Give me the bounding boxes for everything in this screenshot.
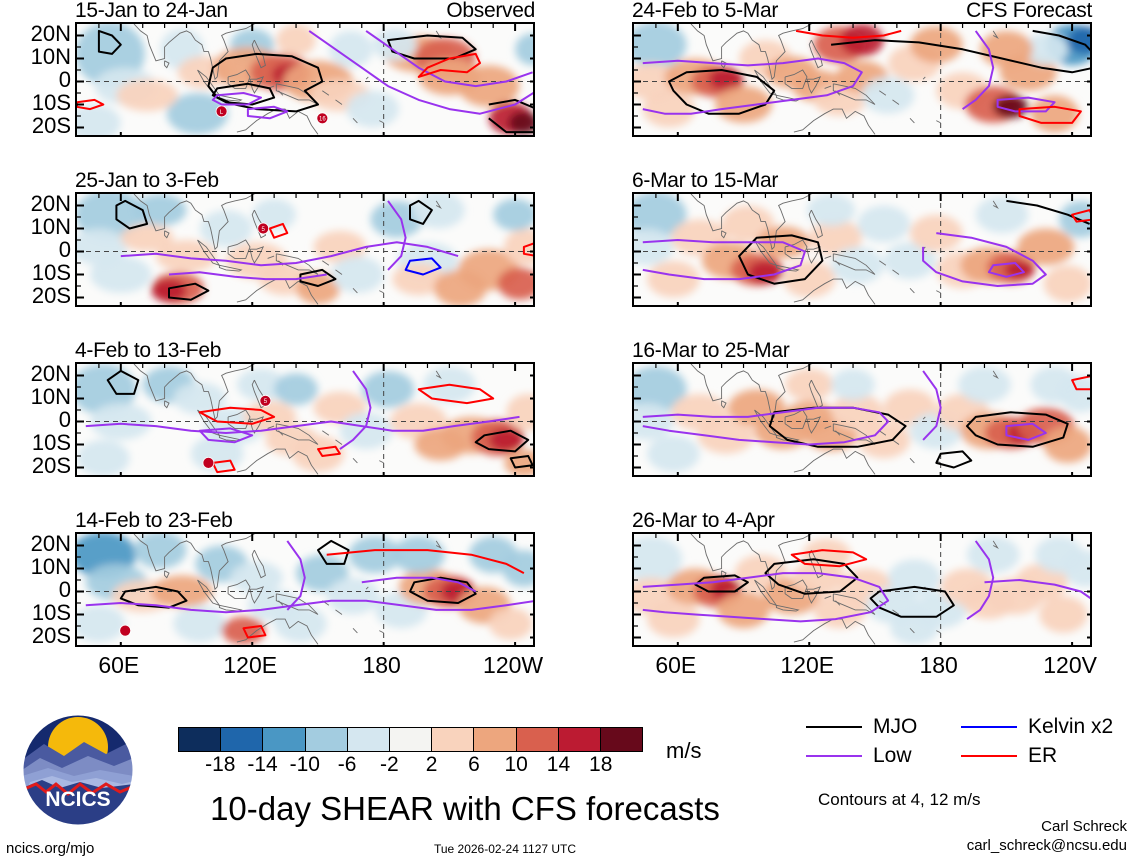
author-name: Carl Schreck xyxy=(967,818,1127,837)
colorbar-swatch xyxy=(559,728,601,751)
y-axis-tick-label: 10S xyxy=(32,602,71,624)
logo-text: NCICS xyxy=(45,788,110,811)
y-axis-tick-label: 10S xyxy=(32,92,71,114)
svg-text:16: 16 xyxy=(319,117,326,123)
y-axis-tick-label: 20S xyxy=(32,625,71,647)
forecast-panel: 26-Mar to 4-Apr60E120E180120V xyxy=(632,532,1092,647)
cyclone-marker: L xyxy=(216,106,227,117)
panel-plot-area xyxy=(75,532,535,647)
colorbar-tick: -14 xyxy=(247,753,277,777)
colorbar-tick: 18 xyxy=(589,753,612,777)
x-axis-tick-label: 180 xyxy=(919,652,957,679)
y-axis-tick-label: 0 xyxy=(59,409,71,431)
author-block: Carl Schreck carl_schreck@ncsu.edu xyxy=(967,818,1127,856)
x-axis-labels: 60E120E180120W xyxy=(75,652,535,682)
y-axis-tick-label: 10S xyxy=(32,262,71,284)
forecast-panel: 16-Mar to 25-Mar xyxy=(632,362,1092,477)
colorbar-tick: 2 xyxy=(426,753,438,777)
panel-title: 24-Feb to 5-Mar xyxy=(632,0,778,23)
panel-plot-area xyxy=(632,532,1092,647)
y-axis-tick-label: 20N xyxy=(31,363,71,385)
shear-forecast-figure: 15-Jan to 24-JanObserved20N10N010S20SL16… xyxy=(0,0,1135,860)
legend-item-er: ER xyxy=(961,744,1116,768)
panel-title: 4-Feb to 13-Feb xyxy=(75,339,221,363)
y-axis-tick-label: 20S xyxy=(32,455,71,477)
legend-line-icon xyxy=(806,726,862,728)
legend-item-mjo: MJO xyxy=(806,715,961,739)
y-axis-tick-label: 10N xyxy=(31,386,71,408)
legend-label: MJO xyxy=(873,715,917,739)
forecast-panel: 4-Feb to 13-Feb20N10N010S20S5 xyxy=(75,362,535,477)
colorbar-tick: -10 xyxy=(290,753,320,777)
y-axis-tick-label: 20N xyxy=(31,193,71,215)
legend-row: MJO Kelvin x2 xyxy=(806,712,1116,741)
colorbar-tick: -6 xyxy=(338,753,357,777)
panel-title: 16-Mar to 25-Mar xyxy=(632,339,789,363)
legend-label: ER xyxy=(1028,744,1057,768)
colorbar-swatch xyxy=(517,728,559,751)
legend-label: Low xyxy=(873,744,912,768)
y-axis-tick-label: 10N xyxy=(31,216,71,238)
forecast-panel: 24-Feb to 5-MarCFS Forecast xyxy=(632,22,1092,137)
colorbar-tick: -18 xyxy=(205,753,235,777)
colorbar-tick-labels: -18-14-10-6-226101418 xyxy=(178,752,643,778)
legend-item-kelvin: Kelvin x2 xyxy=(961,715,1116,739)
x-axis-tick-label: 120V xyxy=(1043,652,1097,679)
cyclone-marker xyxy=(203,457,214,468)
legend-line-icon xyxy=(806,755,862,757)
colorbar-tick: 14 xyxy=(547,753,570,777)
cyclone-marker: 16 xyxy=(317,113,328,124)
colorbar-units: m/s xyxy=(666,738,701,764)
panel-plot-area: 5 xyxy=(75,362,535,477)
legend-line-icon xyxy=(961,726,1017,728)
y-axis-labels: 20N10N010S20S xyxy=(9,350,71,489)
panel-plot-area: L16 xyxy=(75,22,535,137)
y-axis-tick-label: 10N xyxy=(31,556,71,578)
y-axis-tick-label: 20N xyxy=(31,533,71,555)
colorbar: -18-14-10-6-226101418 xyxy=(178,727,643,778)
forecast-panel: 14-Feb to 23-Feb20N10N010S20S60E120E1801… xyxy=(75,532,535,647)
x-axis-labels: 60E120E180120V xyxy=(632,652,1092,682)
y-axis-tick-label: 10S xyxy=(32,432,71,454)
colorbar-swatch xyxy=(432,728,474,751)
panel-plot-area xyxy=(632,22,1092,137)
footer-timestamp: Tue 2026-02-24 1127 UTC xyxy=(434,842,576,856)
colorbar-swatch xyxy=(474,728,516,751)
legend-row: Low ER xyxy=(806,741,1116,770)
y-axis-labels: 20N10N010S20S xyxy=(9,10,71,149)
colorbar-swatches xyxy=(178,727,643,752)
colorbar-tick: 10 xyxy=(504,753,527,777)
x-axis-tick-label: 120E xyxy=(780,652,834,679)
cyclone-marker: 5 xyxy=(258,223,269,234)
colorbar-swatch xyxy=(221,728,263,751)
footer-url[interactable]: ncics.org/mjo xyxy=(6,840,94,857)
author-email: carl_schreck@ncsu.edu xyxy=(967,837,1127,856)
x-axis-tick-label: 60E xyxy=(98,652,139,679)
y-axis-tick-label: 0 xyxy=(59,69,71,91)
colorbar-swatch xyxy=(348,728,390,751)
ncics-logo: NCICS xyxy=(22,714,134,831)
x-axis-tick-label: 180 xyxy=(362,652,400,679)
colorbar-swatch xyxy=(601,728,642,751)
colorbar-tick: 6 xyxy=(468,753,480,777)
y-axis-tick-label: 20N xyxy=(31,23,71,45)
panel-title: 14-Feb to 23-Feb xyxy=(75,509,232,533)
y-axis-tick-label: 0 xyxy=(59,239,71,261)
cyclone-marker: 5 xyxy=(260,395,271,406)
panel-title: 15-Jan to 24-Jan xyxy=(75,0,228,23)
x-axis-tick-label: 60E xyxy=(655,652,696,679)
x-axis-tick-label: 120E xyxy=(223,652,277,679)
x-axis-tick-label: 120W xyxy=(483,652,543,679)
y-axis-labels: 20N10N010S20S xyxy=(9,180,71,319)
panel-corner-label: Observed xyxy=(446,0,535,23)
y-axis-labels: 20N10N010S20S xyxy=(9,520,71,659)
panel-corner-label: CFS Forecast xyxy=(966,0,1092,23)
legend-item-low: Low xyxy=(806,744,961,768)
colorbar-swatch xyxy=(179,728,221,751)
y-axis-tick-label: 0 xyxy=(59,579,71,601)
cyclone-marker xyxy=(120,625,131,636)
y-axis-tick-label: 10N xyxy=(31,46,71,68)
colorbar-tick: -2 xyxy=(380,753,399,777)
y-axis-tick-label: 20S xyxy=(32,285,71,307)
panel-title: 6-Mar to 15-Mar xyxy=(632,169,778,193)
colorbar-swatch xyxy=(306,728,348,751)
forecast-panel: 25-Jan to 3-Feb20N10N010S20S5 xyxy=(75,192,535,307)
colorbar-swatch xyxy=(263,728,305,751)
colorbar-swatch xyxy=(390,728,432,751)
panel-plot-area xyxy=(632,362,1092,477)
legend-line-icon xyxy=(961,755,1017,757)
legend-label: Kelvin x2 xyxy=(1028,715,1113,739)
forecast-panel: 15-Jan to 24-JanObserved20N10N010S20SL16 xyxy=(75,22,535,137)
panel-plot-area: 5 xyxy=(75,192,535,307)
contour-legend: MJO Kelvin x2 Low ER xyxy=(806,712,1116,770)
panel-plot-area xyxy=(632,192,1092,307)
panel-title: 25-Jan to 3-Feb xyxy=(75,169,219,193)
panel-title: 26-Mar to 4-Apr xyxy=(632,509,775,533)
y-axis-tick-label: 20S xyxy=(32,115,71,137)
forecast-panel: 6-Mar to 15-Mar xyxy=(632,192,1092,307)
page-title: 10-day SHEAR with CFS forecasts xyxy=(155,790,775,828)
contour-note: Contours at 4, 12 m/s xyxy=(818,790,981,810)
